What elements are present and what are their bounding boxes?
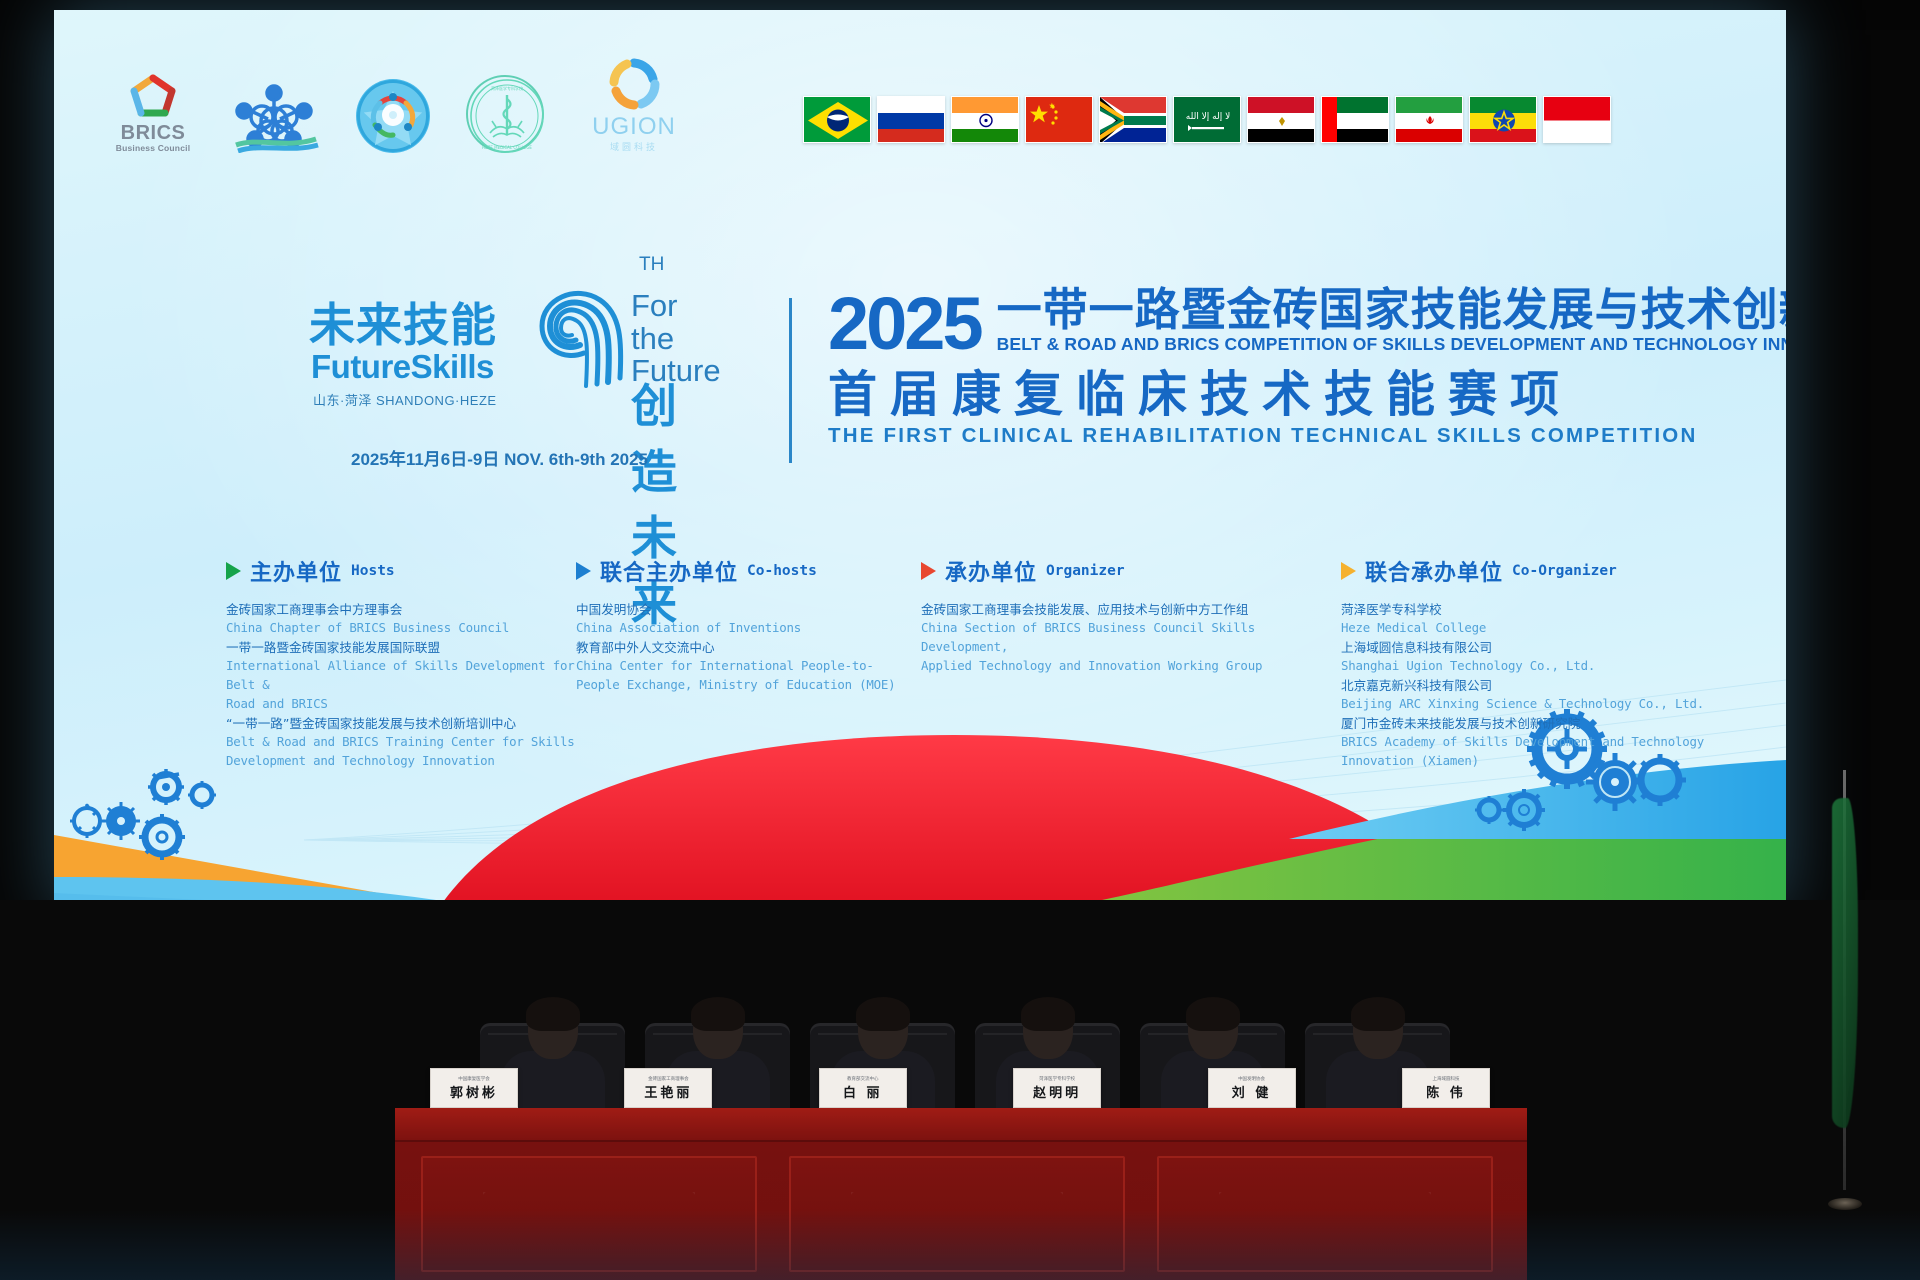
ugion-wordmark: UGION bbox=[580, 115, 688, 139]
main-title-group: 2025 一带一路暨金砖国家技能发展与技术创新大赛 BELT & ROAD AN… bbox=[828, 282, 1786, 448]
main-title-cn: 一带一路暨金砖国家技能发展与技术创新大赛 bbox=[997, 286, 1786, 333]
org-entry-en: Heze Medical College bbox=[1341, 619, 1761, 638]
org-entry-cn: 教育部中外人文交流中心 bbox=[576, 638, 921, 657]
flag-india bbox=[951, 96, 1019, 143]
vertical-divider bbox=[789, 298, 792, 463]
led-backdrop-screen: BRICS Business Council bbox=[54, 10, 1786, 915]
flag-saudi-arabia: لا إله إلا الله bbox=[1173, 96, 1241, 143]
ugion-logo: UGION 域圆科技 bbox=[580, 55, 688, 153]
event-dates: 2025年11月6日-9日 NOV. 6th-9th 2025 bbox=[351, 445, 648, 470]
brics-star-mark bbox=[122, 72, 184, 120]
flag-base bbox=[1828, 1198, 1862, 1210]
hosts-heading-en: Hosts bbox=[351, 563, 395, 579]
coorganizer-heading-cn: 联合承办单位 bbox=[1365, 555, 1503, 587]
flag-united-arab-emirates bbox=[1321, 96, 1389, 143]
org-entry-en: China Section of BRICS Business Council … bbox=[921, 619, 1341, 676]
coorganizer-heading: 联合承办单位 Co-Organizer bbox=[1341, 555, 1761, 587]
table-top-edge bbox=[395, 1108, 1527, 1142]
name-placard: 中国发明协会 刘 健 bbox=[1208, 1068, 1296, 1108]
flag-iran bbox=[1395, 96, 1463, 143]
placard-name: 白 丽 bbox=[843, 1082, 883, 1101]
flag-egypt bbox=[1247, 96, 1315, 143]
cohosts-heading-en: Co-hosts bbox=[747, 563, 817, 579]
triangle-marker-icon bbox=[226, 562, 241, 580]
stage-scene: BRICS Business Council bbox=[0, 0, 1920, 1280]
org-entry-en: BRICS Academy of Skills Development and … bbox=[1341, 733, 1761, 771]
organizer-column-coorganizer: 联合承办单位 Co-Organizer 菏泽医学专科学校 Heze Medica… bbox=[1341, 555, 1761, 771]
organizer-heading-en: Organizer bbox=[1046, 563, 1125, 579]
placard-name: 赵明明 bbox=[1033, 1082, 1081, 1101]
triangle-marker-icon bbox=[576, 562, 591, 580]
placard-name: 郭树彬 bbox=[450, 1082, 498, 1101]
subtitle-cn: 首届康复临床技术技能赛项 bbox=[828, 366, 1786, 424]
future-skills-logo: 未来技能 FutureSkills 山东·菏泽 SHANDONG·HEZE TH bbox=[309, 282, 639, 409]
furled-flag bbox=[1832, 798, 1858, 1128]
panelist-hair bbox=[1351, 997, 1405, 1031]
flag-russia bbox=[877, 96, 945, 143]
hosts-heading: 主办单位 Hosts bbox=[226, 555, 576, 587]
name-placard: 菏泽医学专科学校 赵明明 bbox=[1013, 1068, 1101, 1108]
name-placard: 金砖国家工商理事会 王艳丽 bbox=[624, 1068, 712, 1108]
placard-name: 刘 健 bbox=[1232, 1082, 1272, 1101]
flag-china bbox=[1025, 96, 1093, 143]
org-entry-cn: 菏泽医学专科学校 bbox=[1341, 600, 1761, 619]
org-entry-cn: 北京嘉克新兴科技有限公司 bbox=[1341, 676, 1761, 695]
svg-text:菏泽医学专科学校: 菏泽医学专科学校 bbox=[491, 85, 523, 91]
flag-ethiopia bbox=[1469, 96, 1537, 143]
cohosts-heading-cn: 联合主办单位 bbox=[600, 555, 738, 587]
organizer-column-organizer: 承办单位 Organizer 金砖国家工商理事会技能发展、应用技术与创新中方工作… bbox=[921, 555, 1341, 771]
flag-south-africa bbox=[1099, 96, 1167, 143]
org-entry-en: Shanghai Ugion Technology Co., Ltd. bbox=[1341, 657, 1761, 676]
molecule-network-logo bbox=[228, 81, 320, 153]
org-entry-cn: “一带一路”暨金砖国家技能发展与技术创新培训中心 bbox=[226, 714, 576, 733]
triangle-marker-icon bbox=[921, 562, 936, 580]
ugion-chinese-subtext: 域圆科技 bbox=[580, 140, 688, 153]
organizer-column-hosts: 主办单位 Hosts 金砖国家工商理事会中方理事会 China Chapter … bbox=[226, 555, 576, 771]
floor-reflection bbox=[0, 1210, 1920, 1280]
triangle-marker-icon bbox=[1341, 562, 1356, 580]
event-title-block: 未来技能 FutureSkills 山东·菏泽 SHANDONG·HEZE TH bbox=[309, 282, 1786, 463]
svg-text:لا إله إلا الله: لا إله إلا الله bbox=[1186, 112, 1230, 122]
furled-flag-stand bbox=[1826, 770, 1862, 1210]
name-placard: 中国康复医学会 郭树彬 bbox=[430, 1068, 518, 1108]
hosts-heading-cn: 主办单位 bbox=[250, 555, 342, 587]
org-entry-en: International Alliance of Skills Develop… bbox=[226, 657, 576, 714]
sponsor-logo-row: BRICS Business Council bbox=[114, 55, 688, 153]
placard-name: 陈 伟 bbox=[1426, 1082, 1466, 1101]
placard-name: 王艳丽 bbox=[644, 1082, 692, 1101]
panelist-hair bbox=[856, 997, 910, 1031]
org-entry-en: Belt & Road and BRICS Training Center fo… bbox=[226, 733, 576, 771]
organizer-column-cohosts: 联合主办单位 Co-hosts 中国发明协会 China Association… bbox=[576, 555, 921, 771]
subtitle-en: THE FIRST CLINICAL REHABILITATION TECHNI… bbox=[828, 424, 1786, 449]
heze-medical-college-seal-logo: 菏泽医学专科学校 HEZE MEDICAL COLLEGE bbox=[466, 75, 544, 153]
cohosts-heading: 联合主办单位 Co-hosts bbox=[576, 555, 921, 587]
org-entry-cn: 一带一路暨金砖国家技能发展国际联盟 bbox=[226, 638, 576, 657]
panelist-hair bbox=[526, 997, 580, 1031]
participating-country-flags: لا إله إلا الله bbox=[803, 96, 1611, 143]
brics-logo-subtext: Business Council bbox=[114, 143, 192, 153]
organizer-sections: 主办单位 Hosts 金砖国家工商理事会中方理事会 China Chapter … bbox=[226, 555, 1786, 771]
svg-text:HEZE MEDICAL COLLEGE: HEZE MEDICAL COLLEGE bbox=[482, 145, 532, 150]
flag-brazil bbox=[803, 96, 871, 143]
org-entry-en: China Association of Inventions bbox=[576, 619, 921, 638]
panelist-hair bbox=[1021, 997, 1075, 1031]
ugion-ring-mark bbox=[605, 55, 663, 113]
organizer-heading-cn: 承办单位 bbox=[945, 555, 1037, 587]
main-title-en: BELT & ROAD AND BRICS COMPETITION OF SKI… bbox=[997, 333, 1786, 356]
for-line1: For bbox=[631, 290, 721, 323]
org-entry-cn: 厦门市金砖未来技能发展与技术创新研究院 bbox=[1341, 714, 1761, 733]
name-placard: 上海域圆科技 陈 伟 bbox=[1402, 1068, 1490, 1108]
brics-business-council-logo: BRICS Business Council bbox=[114, 72, 192, 153]
org-entry-en: Beijing ARC Xinxing Science & Technology… bbox=[1341, 695, 1761, 714]
brics-logo-text: BRICS bbox=[114, 123, 192, 143]
org-entry-cn: 金砖国家工商理事会中方理事会 bbox=[226, 600, 576, 619]
coorganizer-heading-en: Co-Organizer bbox=[1512, 563, 1617, 579]
name-placard-row: 中国康复医学会 郭树彬 金砖国家工商理事会 王艳丽 教育部交流中心 白 丽 菏泽… bbox=[430, 1068, 1490, 1112]
org-entry-en: China Center for International People-to… bbox=[576, 657, 921, 695]
org-entry-en: China Chapter of BRICS Business Council bbox=[226, 619, 576, 638]
name-placard: 教育部交流中心 白 丽 bbox=[819, 1068, 907, 1108]
blue-star-emblem-logo bbox=[356, 79, 430, 153]
org-entry-cn: 上海域圆信息科技有限公司 bbox=[1341, 638, 1761, 657]
panelist-hair bbox=[1186, 997, 1240, 1031]
org-entry-cn: 中国发明协会 bbox=[576, 600, 921, 619]
number-nine-spiral-mark bbox=[514, 250, 644, 400]
organizer-heading: 承办单位 Organizer bbox=[921, 555, 1341, 587]
event-year: 2025 bbox=[828, 291, 981, 356]
flag-indonesia bbox=[1543, 96, 1611, 143]
org-entry-cn: 金砖国家工商理事会技能发展、应用技术与创新中方工作组 bbox=[921, 600, 1341, 619]
panelist-hair bbox=[691, 997, 745, 1031]
ordinal-th-text: TH bbox=[639, 254, 664, 276]
